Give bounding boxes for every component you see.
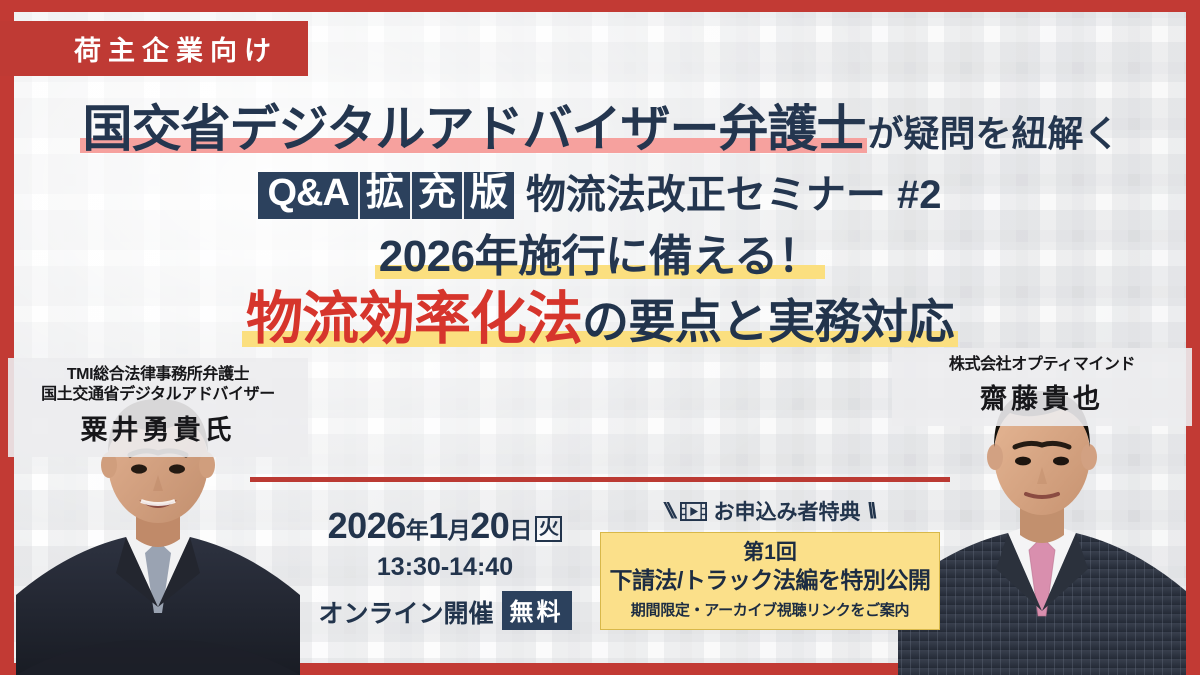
headline-line-4: 物流効率化法の要点と実務対応 [0,291,1200,348]
headline-block: 国交省デジタルアドバイザー弁護士が疑問を紐解く Q&A拡充版 物流法改正セミナー… [0,104,1200,348]
speaker-right-name: 齋藤貴也 [896,377,1188,416]
benefit-card: 第1回 下請法/トラック法編を特別公開 期間限定・アーカイブ視聴リンクをご案内 [600,532,940,630]
speaker-left: TMI総合法律事務所弁護士 国土交通省デジタルアドバイザー 粟井勇貴氏 [8,345,308,675]
headline-line-2: Q&A拡充版 物流法改正セミナー #2 [0,172,1200,219]
event-format-row: オンライン開催無料 [300,591,590,630]
chip-qa: Q&A [258,172,359,219]
chip-ban: 版 [464,172,514,219]
headline-line-3: 2026年施行に備える！ [0,235,1200,279]
decor-slash-right: // [863,498,878,524]
event-date-day: 20 [470,505,509,546]
audience-badge-label: 荷主企業向け [74,29,278,68]
price-badge: 無料 [502,591,572,630]
chip-kaku: 拡 [360,172,412,219]
headline-line-1-tail: が疑問を紐解く [867,113,1119,154]
benefit-note: 期間限定・アーカイブ視聴リンクをご案内 [607,599,933,620]
event-weekday-badge: 火 [535,516,563,542]
qa-expanded-chip-group: Q&A拡充版 [258,172,514,219]
event-date-year-unit: 年 [406,517,429,543]
registration-benefit: \\ お申込み者特典 // 第1回 下請法/トラック法編を特別公開 期間限定・ア [600,496,940,630]
speaker-left-name: 粟井勇貴氏 [12,408,304,447]
speaker-left-role-1: TMI総合法律事務所弁護士 [12,365,304,385]
section-divider [250,477,950,482]
chip-juu: 充 [412,172,464,219]
event-date-month-unit: 月 [448,517,471,543]
event-date-day-unit: 日 [509,517,532,543]
headline-law-name: 物流効率化法 [246,287,582,351]
benefit-heading-label: お申込み者特典 [714,496,861,526]
event-time: 13:30-14:40 [300,553,590,582]
headline-highlight-advisor: 国交省デジタルアドバイザー弁護士 [80,104,867,154]
seminar-banner: 荷主企業向け 国交省デジタルアドバイザー弁護士が疑問を紐解く Q&A拡充版 物流… [0,0,1200,675]
headline-seminar-title: 物流法改正セミナー #2 [526,175,942,215]
benefit-heading-row: \\ お申込み者特典 // [600,496,940,526]
speaker-left-nameplate: TMI総合法律事務所弁護士 国土交通省デジタルアドバイザー 粟井勇貴氏 [8,358,308,457]
event-date: 2026年1月20日火 [300,505,590,546]
event-format: オンライン開催 [318,600,493,628]
benefit-session-title: 下請法/トラック法編を特別公開 [607,566,933,596]
headline-highlight-law: 物流効率化法の要点と実務対応 [242,291,958,348]
audience-badge: 荷主企業向け [0,21,308,76]
headline-law-suffix: の要点と実務対応 [582,295,954,348]
speaker-right-role-1: 株式会社オプティマインド [896,355,1188,375]
film-play-icon [680,502,707,521]
event-date-year: 2026 [328,505,406,546]
speaker-right-nameplate: 株式会社オプティマインド 齋藤貴也 [892,348,1192,426]
headline-highlight-2026: 2026年施行に備える！ [375,235,826,279]
benefit-session-number: 第1回 [607,540,933,566]
event-date-month: 1 [428,505,448,546]
decor-slash-left: \\ [662,498,677,524]
headline-line-1: 国交省デジタルアドバイザー弁護士が疑問を紐解く [0,104,1200,154]
event-details: 2026年1月20日火 13:30-14:40 オンライン開催無料 [300,505,590,630]
speaker-left-role-2: 国土交通省デジタルアドバイザー [12,385,304,405]
